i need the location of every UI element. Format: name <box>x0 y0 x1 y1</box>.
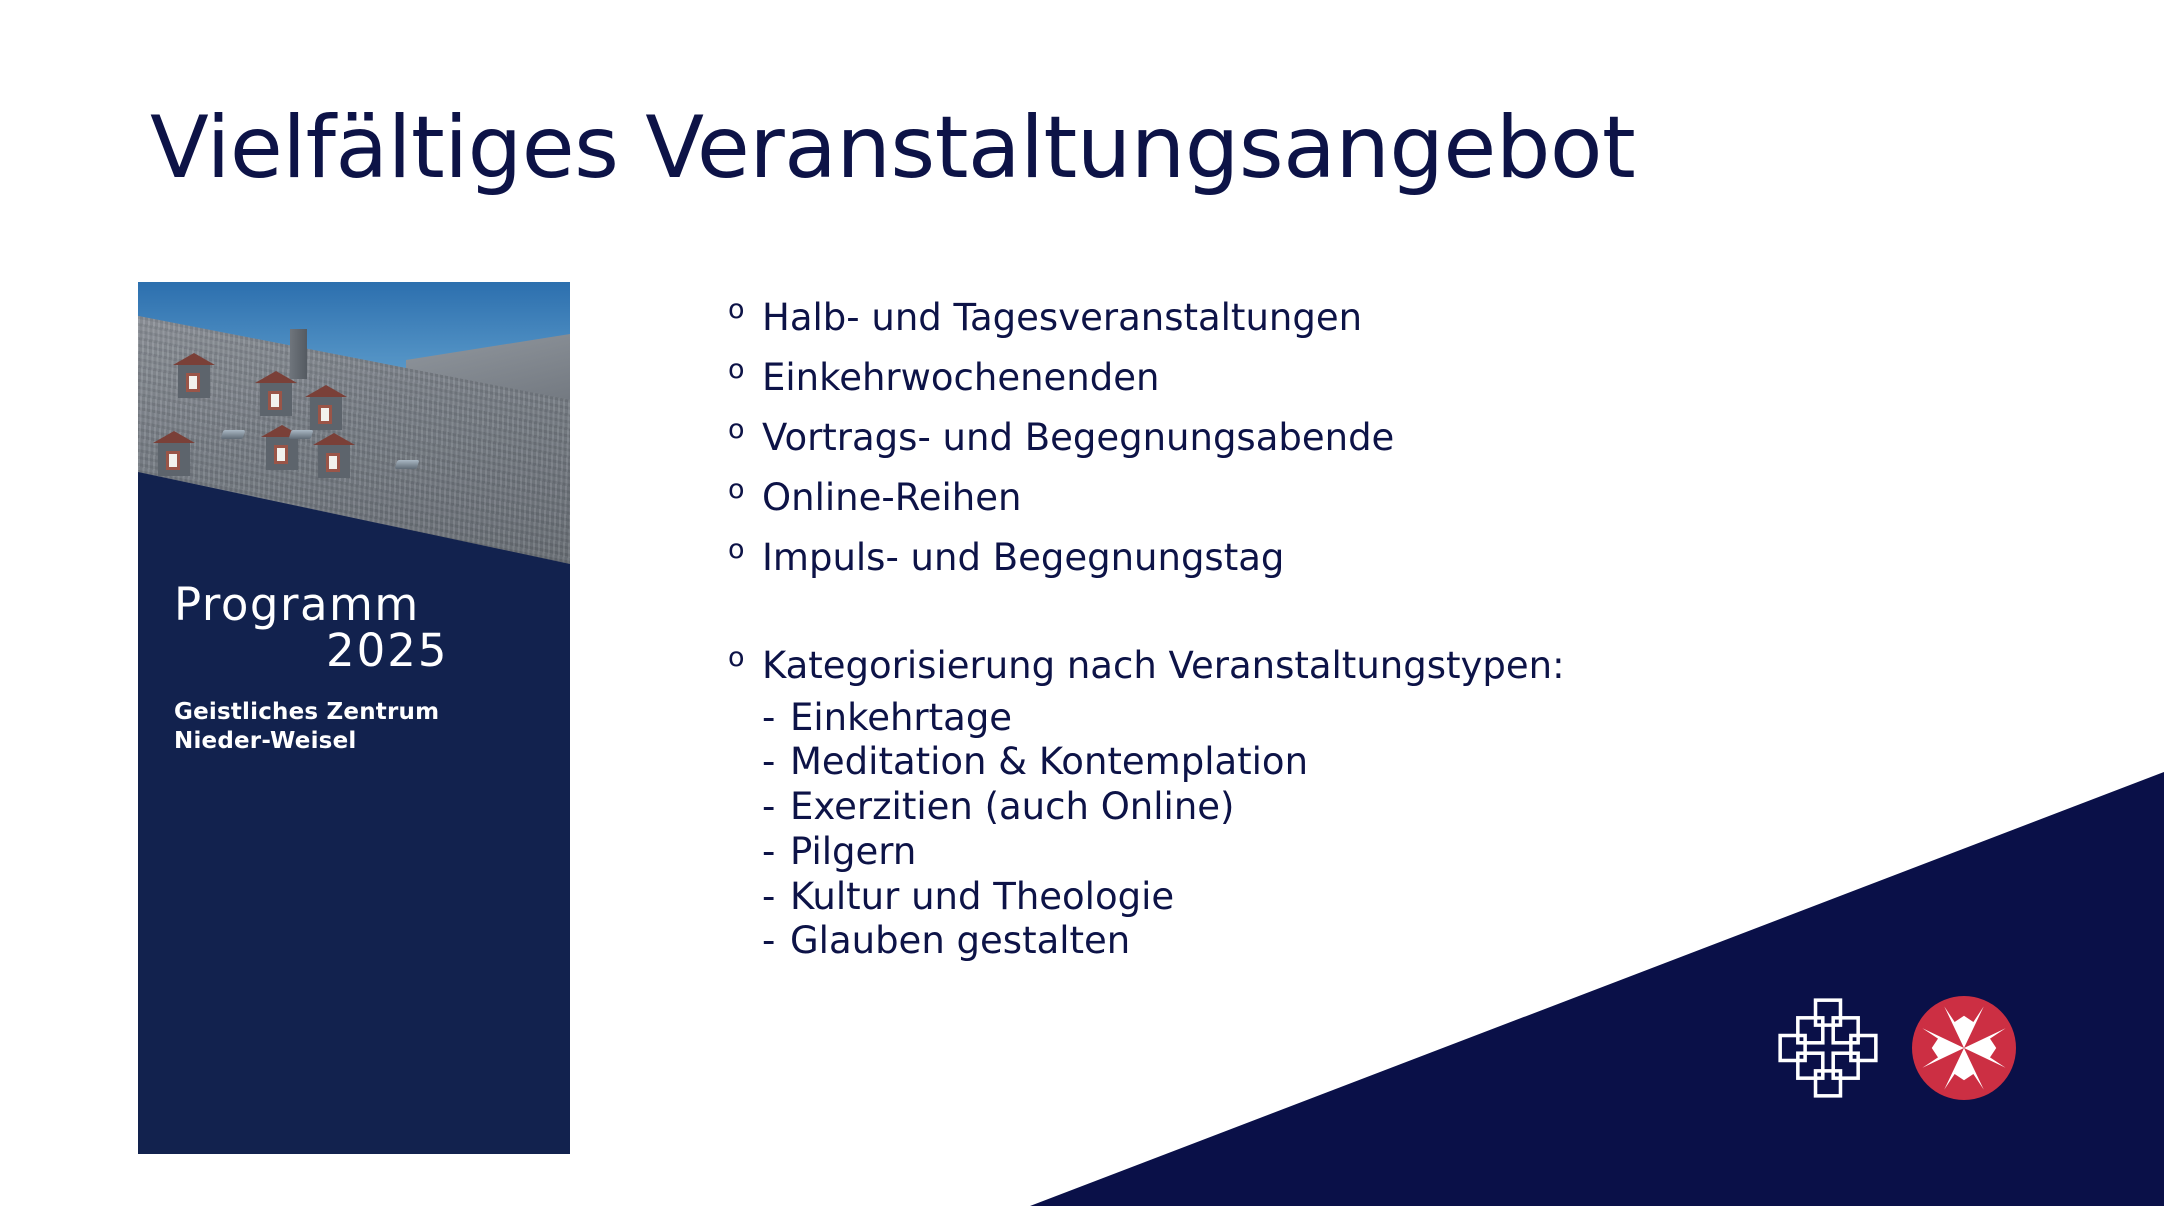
list-item: o Vortrags- und Begegnungsabende <box>728 408 2008 468</box>
dash-marker-icon: - <box>762 740 790 785</box>
bullet-marker-icon: o <box>728 348 762 392</box>
photo-skylight <box>395 460 420 469</box>
brochure-subtitle-line1: Geistliches Zentrum <box>174 698 544 727</box>
sub-list-item-label: Meditation & Kontemplation <box>790 740 1308 785</box>
photo-shutter <box>370 540 381 580</box>
photo-skylight <box>289 430 314 439</box>
bullet-content: o Halb- und Tagesveranstaltungen o Einke… <box>728 288 2008 964</box>
sub-list-item-label: Einkehrtage <box>790 696 1012 741</box>
list-item-category-heading: o Kategorisierung nach Veranstaltungstyp… <box>728 636 2008 696</box>
brochure-cover-image: Programm 2025 Geistliches Zentrum Nieder… <box>138 282 570 1154</box>
dash-marker-icon: - <box>762 830 790 875</box>
photo-dormer <box>260 380 292 416</box>
sub-list-item: - Meditation & Kontemplation <box>728 740 2008 785</box>
maltese-cross-icon <box>1912 996 2016 1100</box>
photo-shutter <box>327 540 338 580</box>
bullet-marker-icon: o <box>728 288 762 332</box>
bullet-marker-icon: o <box>728 636 762 680</box>
corner-logo-group <box>1776 996 2016 1100</box>
list-item-label: Halb- und Tagesveranstaltungen <box>762 288 2008 348</box>
brochure-title-block: Programm 2025 Geistliches Zentrum Nieder… <box>174 582 544 756</box>
johanniter-cross-icon <box>1776 996 1880 1100</box>
photo-skylight <box>221 430 246 439</box>
list-item: o Online-Reihen <box>728 468 2008 528</box>
sub-list-item-label: Pilgern <box>790 830 916 875</box>
list-item: o Einkehrwochenenden <box>728 348 2008 408</box>
photo-dormer <box>158 440 190 476</box>
sub-list-item-label: Glauben gestalten <box>790 919 1130 964</box>
category-heading-label: Kategorisierung nach Veranstaltungstypen… <box>762 636 2008 696</box>
brochure-title-programm: Programm <box>174 582 544 627</box>
list-item-label: Online-Reihen <box>762 468 2008 528</box>
dash-marker-icon: - <box>762 696 790 741</box>
list-item-label: Vortrags- und Begegnungsabende <box>762 408 2008 468</box>
photo-dormer <box>310 394 342 430</box>
list-item: o Impuls- und Begegnungstag <box>728 528 2008 588</box>
brochure-subtitle-line2: Nieder-Weisel <box>174 727 544 756</box>
bullet-marker-icon: o <box>728 468 762 512</box>
sub-list-item: - Einkehrtage <box>728 696 2008 741</box>
photo-dormer <box>178 362 210 398</box>
sub-list-item: - Kultur und Theologie <box>728 875 2008 920</box>
sub-list-item: - Exerzitien (auch Online) <box>728 785 2008 830</box>
list-item: o Halb- und Tagesveranstaltungen <box>728 288 2008 348</box>
dash-marker-icon: - <box>762 875 790 920</box>
list-item-label: Einkehrwochenenden <box>762 348 2008 408</box>
sub-list-item: - Glauben gestalten <box>728 919 2008 964</box>
list-item-label: Impuls- und Begegnungstag <box>762 528 2008 588</box>
page-title: Vielfältiges Veranstaltungsangebot <box>150 100 2050 196</box>
sub-list-item-label: Exerzitien (auch Online) <box>790 785 1234 830</box>
dash-marker-icon: - <box>762 785 790 830</box>
brochure-title-year: 2025 <box>174 627 544 674</box>
photo-window <box>342 540 368 580</box>
bullet-marker-icon: o <box>728 408 762 452</box>
photo-dormer <box>318 442 350 478</box>
sub-list-item-label: Kultur und Theologie <box>790 875 1174 920</box>
photo-dormer <box>266 434 298 470</box>
dash-marker-icon: - <box>762 919 790 964</box>
bullet-marker-icon: o <box>728 528 762 572</box>
sub-list-item: - Pilgern <box>728 830 2008 875</box>
list-group-spacer <box>728 588 2008 636</box>
